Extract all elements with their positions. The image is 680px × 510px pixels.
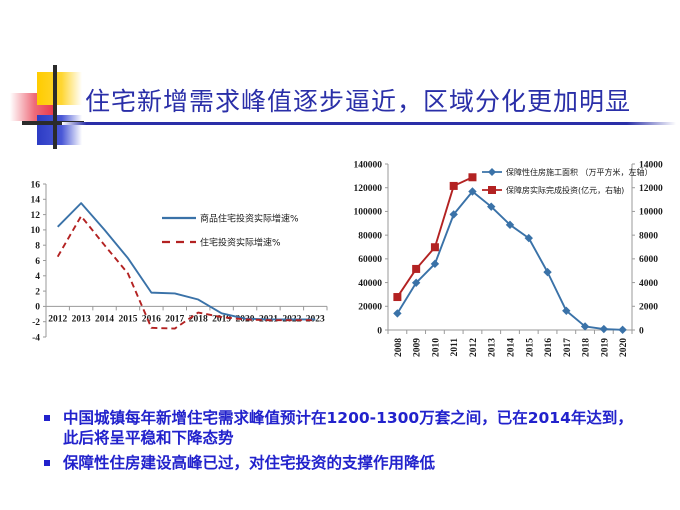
svg-text:住宅投资实际增速%: 住宅投资实际增速% — [200, 237, 281, 249]
bullet-text: 中国城镇每年新增住宅需求峰值预计在1200-1300万套之间，已在2014年达到… — [63, 408, 644, 449]
svg-text:10: 10 — [31, 226, 41, 236]
svg-text:0: 0 — [639, 326, 644, 336]
bullet-list: 中国城镇每年新增住宅需求峰值预计在1200-1300万套之间，已在2014年达到… — [44, 408, 644, 477]
svg-text:2013: 2013 — [72, 314, 91, 324]
list-item: 中国城镇每年新增住宅需求峰值预计在1200-1300万套之间，已在2014年达到… — [44, 408, 644, 449]
svg-text:0: 0 — [35, 303, 40, 313]
svg-text:2012: 2012 — [48, 314, 67, 324]
svg-text:2008: 2008 — [394, 338, 404, 357]
decor-square-yellow — [37, 72, 82, 105]
svg-text:10000: 10000 — [639, 208, 663, 218]
svg-text:2014: 2014 — [507, 338, 517, 357]
svg-text:0: 0 — [377, 326, 382, 336]
svg-text:2012: 2012 — [469, 338, 479, 357]
title-underline — [62, 122, 676, 125]
svg-text:140000: 140000 — [354, 160, 383, 170]
svg-text:16: 16 — [31, 180, 41, 190]
svg-text:4000: 4000 — [639, 279, 658, 289]
svg-text:2016: 2016 — [544, 338, 554, 357]
svg-text:60000: 60000 — [358, 255, 382, 265]
svg-text:100000: 100000 — [354, 208, 383, 218]
svg-text:14: 14 — [31, 196, 41, 206]
svg-text:2010: 2010 — [431, 338, 441, 357]
list-item: 保障性住房建设高峰已过，对住宅投资的支撑作用降低 — [44, 453, 644, 473]
svg-text:80000: 80000 — [358, 231, 382, 241]
page-title: 住宅新增需求峰值逐步逼近，区域分化更加明显 — [85, 82, 631, 118]
svg-text:4: 4 — [35, 272, 40, 282]
chart-residential-investment-growth: -4-2024681012141620122013201420152016201… — [12, 172, 332, 382]
svg-text:-4: -4 — [32, 333, 40, 343]
svg-text:2015: 2015 — [525, 338, 535, 357]
svg-text:2020: 2020 — [619, 338, 629, 357]
svg-text:8: 8 — [35, 242, 40, 252]
svg-text:2011: 2011 — [450, 338, 460, 357]
chart-left-canvas: -4-2024681012141620122013201420152016201… — [12, 172, 332, 382]
svg-text:保障性住房施工面积 （万平方米，左轴）: 保障性住房施工面积 （万平方米，左轴） — [506, 167, 653, 177]
svg-text:2018: 2018 — [582, 338, 592, 357]
svg-text:20000: 20000 — [358, 303, 382, 313]
decor-cross-vertical — [53, 65, 57, 149]
bullet-text: 保障性住房建设高峰已过，对住宅投资的支撑作用降低 — [63, 453, 435, 473]
bullet-marker-icon — [44, 460, 50, 466]
svg-text:2018: 2018 — [189, 314, 208, 324]
svg-text:2000: 2000 — [639, 303, 658, 313]
svg-text:12000: 12000 — [639, 184, 663, 194]
svg-text:商品住宅投资实际增速%: 商品住宅投资实际增速% — [200, 213, 299, 225]
svg-text:40000: 40000 — [358, 279, 382, 289]
svg-text:2016: 2016 — [142, 314, 161, 324]
svg-text:120000: 120000 — [354, 184, 383, 194]
svg-text:2019: 2019 — [212, 314, 231, 324]
svg-text:保障房实际完成投资(亿元，右轴): 保障房实际完成投资(亿元，右轴) — [506, 185, 624, 195]
svg-text:2009: 2009 — [413, 338, 423, 357]
svg-text:2: 2 — [35, 287, 40, 297]
svg-text:12: 12 — [31, 211, 41, 221]
chart-right-canvas: 0200004000060000800001000001200001400000… — [332, 150, 680, 385]
svg-text:-2: -2 — [32, 318, 40, 328]
svg-text:6: 6 — [35, 257, 40, 267]
chart-affordable-housing: 0200004000060000800001000001200001400000… — [332, 150, 680, 385]
decor-square-blue — [37, 115, 82, 145]
svg-text:2017: 2017 — [563, 338, 573, 357]
svg-text:2013: 2013 — [488, 338, 498, 357]
title-block: 住宅新增需求峰值逐步逼近，区域分化更加明显 — [0, 60, 680, 140]
bullet-marker-icon — [44, 415, 50, 421]
svg-text:6000: 6000 — [639, 255, 658, 265]
svg-text:2019: 2019 — [600, 338, 610, 357]
svg-text:8000: 8000 — [639, 231, 658, 241]
svg-text:2014: 2014 — [95, 314, 114, 324]
svg-text:2015: 2015 — [118, 314, 137, 324]
